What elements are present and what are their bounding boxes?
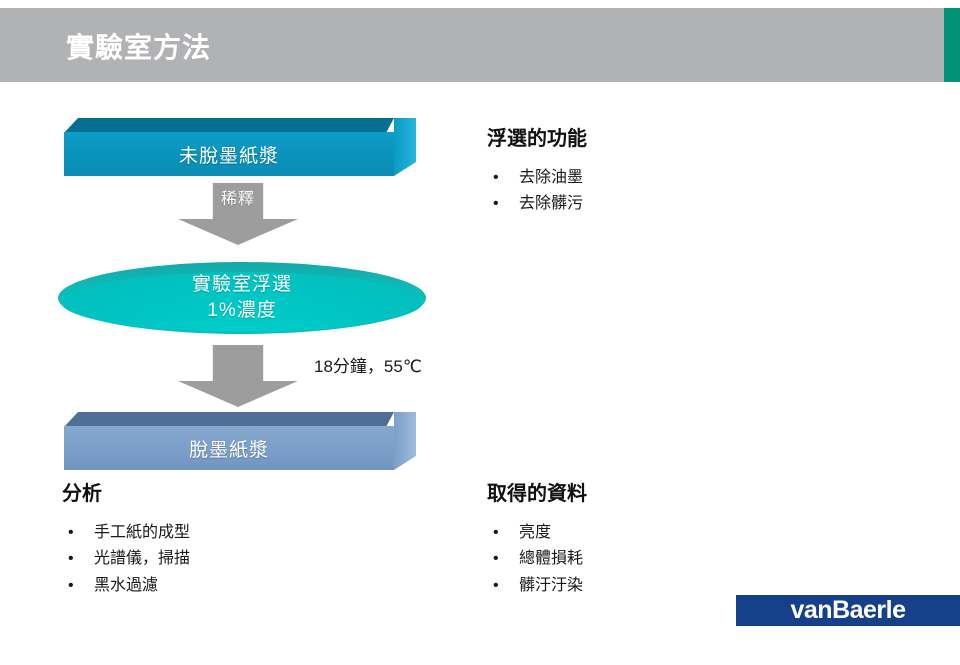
block-flotation-function: 浮選的功能 • 去除油墨 • 去除髒污 [487, 122, 587, 218]
flow-step-lab-flotation-line2: 1%濃度 [207, 298, 276, 324]
banner-accent-stripe [944, 8, 960, 82]
list-item-label: 手工紙的成型 [94, 524, 190, 541]
vanbaerle-logo: vanBaerle [736, 595, 960, 626]
block-analysis-list: • 手工紙的成型 • 光譜儀，掃描 • 黑水過濾 [62, 520, 190, 599]
flow-arrow-dilution-icon: 稀釋 [178, 183, 298, 245]
list-item: • 去除髒污 [487, 191, 587, 217]
box-side-face [394, 412, 416, 470]
flow-step-lab-flotation: 實驗室浮選 1%濃度 [58, 262, 426, 334]
box-side-face [394, 118, 416, 176]
flow-step-undeinked-pulp: 未脫墨紙漿 [64, 118, 416, 170]
block-obtained-data: 取得的資料 • 亮度 • 總體損耗 • 髒汙汙染 [487, 477, 587, 599]
block-flotation-function-heading: 浮選的功能 [487, 122, 587, 151]
flow-step-deinked-pulp: 脫墨紙漿 [64, 412, 416, 464]
list-item: • 手工紙的成型 [62, 520, 190, 546]
bullet-dot-icon: • [493, 191, 499, 217]
list-item: • 髒汙汙染 [487, 573, 587, 599]
flow-arrow-flotation-icon [178, 345, 298, 407]
list-item: • 去除油墨 [487, 165, 587, 191]
list-item-label: 黑水過濾 [94, 577, 158, 594]
flow-arrow-flotation-note: 18分鐘，55℃ [314, 352, 422, 377]
block-analysis: 分析 • 手工紙的成型 • 光譜儀，掃描 • 黑水過濾 [62, 477, 190, 599]
box-top-face [64, 412, 394, 427]
box-top-face [64, 118, 394, 133]
bullet-dot-icon: • [68, 546, 74, 572]
list-item-label: 去除油墨 [519, 169, 583, 186]
bullet-dot-icon: • [493, 546, 499, 572]
block-obtained-data-list: • 亮度 • 總體損耗 • 髒汙汙染 [487, 520, 587, 599]
bullet-dot-icon: • [493, 520, 499, 546]
block-obtained-data-heading: 取得的資料 [487, 477, 587, 506]
list-item: • 亮度 [487, 520, 587, 546]
list-item-label: 去除髒污 [519, 195, 583, 212]
vanbaerle-logo-text: vanBaerle [790, 596, 905, 625]
page-title: 實驗室方法 [66, 26, 211, 66]
block-analysis-heading: 分析 [62, 477, 190, 506]
flow-step-lab-flotation-label: 實驗室浮選 1%濃度 [58, 262, 426, 334]
bullet-dot-icon: • [493, 573, 499, 599]
bullet-dot-icon: • [493, 165, 499, 191]
list-item: • 光譜儀，掃描 [62, 546, 190, 572]
list-item-label: 髒汙汙染 [519, 577, 583, 594]
bullet-dot-icon: • [68, 520, 74, 546]
list-item-label: 光譜儀，掃描 [94, 550, 190, 567]
list-item-label: 總體損耗 [519, 550, 583, 567]
flow-step-deinked-pulp-label: 脫墨紙漿 [64, 426, 394, 470]
list-item-label: 亮度 [519, 524, 551, 541]
flow-step-lab-flotation-line1: 實驗室浮選 [192, 272, 292, 298]
flow-step-undeinked-pulp-label: 未脫墨紙漿 [64, 132, 394, 176]
list-item: • 黑水過濾 [62, 573, 190, 599]
bullet-dot-icon: • [68, 573, 74, 599]
flow-arrow-dilution-label: 稀釋 [178, 185, 298, 209]
block-flotation-function-list: • 去除油墨 • 去除髒污 [487, 165, 587, 218]
down-arrow-icon [178, 345, 298, 407]
list-item: • 總體損耗 [487, 546, 587, 572]
